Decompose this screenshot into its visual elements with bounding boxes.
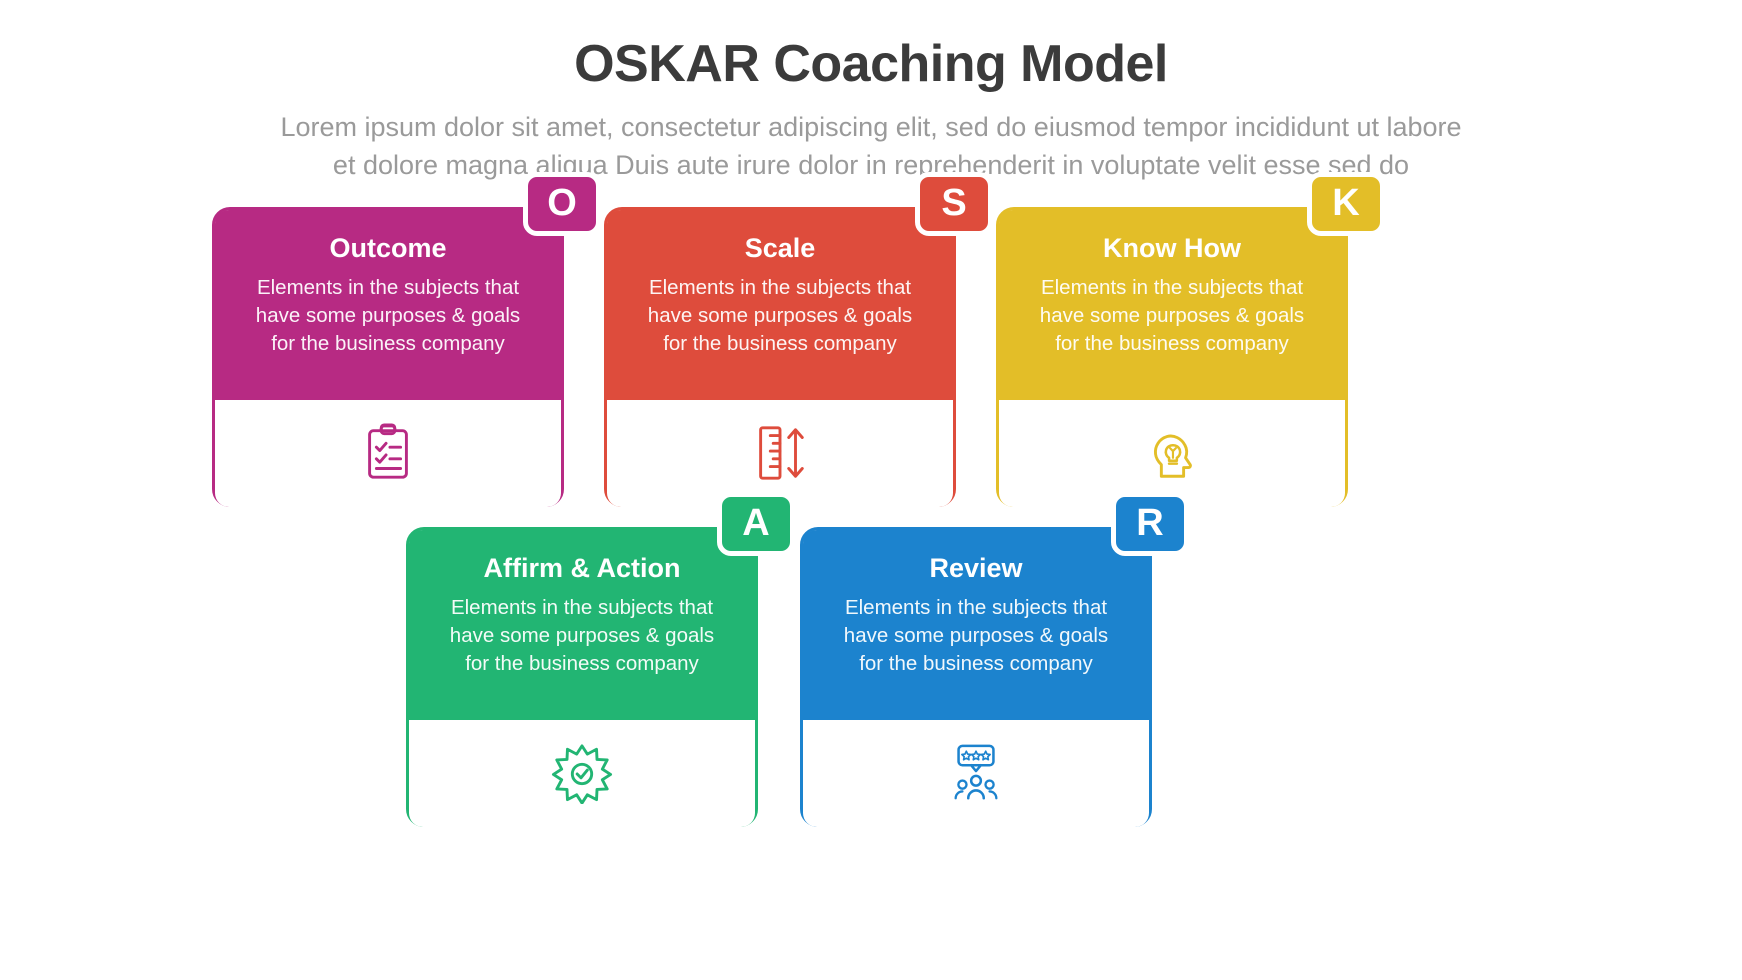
card-title-knowhow: Know How bbox=[1019, 232, 1325, 264]
card-head-knowhow: Know How Elements in the subjects that h… bbox=[999, 210, 1345, 400]
badge-letter-r: R bbox=[1111, 492, 1189, 556]
card-desc-review: Elements in the subjects that have some … bbox=[823, 594, 1129, 678]
card-review[interactable]: R Review Elements in the subjects that h… bbox=[800, 527, 1152, 827]
desc-line-1: Elements in the subjects that bbox=[451, 596, 713, 619]
card-desc-scale: Elements in the subjects that have some … bbox=[627, 274, 933, 358]
card-body-knowhow bbox=[999, 400, 1345, 507]
desc-line-1: Elements in the subjects that bbox=[649, 276, 911, 299]
badge-letter-s: S bbox=[915, 172, 993, 236]
clipboard-checklist-icon bbox=[357, 422, 419, 484]
desc-line-1: Elements in the subjects that bbox=[1041, 276, 1303, 299]
ruler-arrow-icon bbox=[749, 422, 811, 484]
desc-line-1: Elements in the subjects that bbox=[845, 596, 1107, 619]
badge-letter-a: A bbox=[717, 492, 795, 556]
infographic-page: OSKAR Coaching Model Lorem ipsum dolor s… bbox=[0, 0, 1742, 980]
card-title-review: Review bbox=[823, 552, 1129, 584]
desc-line-2: have some purposes & goals bbox=[450, 624, 714, 647]
subtitle-line-1: Lorem ipsum dolor sit amet, consectetur … bbox=[71, 108, 1671, 146]
desc-line-3: for the business company bbox=[1055, 332, 1289, 355]
card-body-scale bbox=[607, 400, 953, 507]
desc-line-1: Elements in the subjects that bbox=[257, 276, 519, 299]
header: OSKAR Coaching Model Lorem ipsum dolor s… bbox=[0, 0, 1742, 185]
card-title-affirm: Affirm & Action bbox=[429, 552, 735, 584]
badge-letter-k: K bbox=[1307, 172, 1385, 236]
card-head-affirm: Affirm & Action Elements in the subjects… bbox=[409, 530, 755, 720]
desc-line-3: for the business company bbox=[663, 332, 897, 355]
card-body-review bbox=[803, 720, 1149, 827]
card-outcome[interactable]: O Outcome Elements in the subjects that … bbox=[212, 207, 564, 507]
desc-line-3: for the business company bbox=[271, 332, 505, 355]
card-body-outcome bbox=[215, 400, 561, 507]
desc-line-3: for the business company bbox=[465, 652, 699, 675]
card-title-scale: Scale bbox=[627, 232, 933, 264]
desc-line-2: have some purposes & goals bbox=[648, 304, 912, 327]
head-lightbulb-icon bbox=[1141, 422, 1203, 484]
badge-letter-o: O bbox=[523, 172, 601, 236]
card-desc-affirm: Elements in the subjects that have some … bbox=[429, 594, 735, 678]
desc-line-2: have some purposes & goals bbox=[256, 304, 520, 327]
card-desc-knowhow: Elements in the subjects that have some … bbox=[1019, 274, 1325, 358]
page-title: OSKAR Coaching Model bbox=[0, 36, 1742, 92]
card-scale[interactable]: S Scale Elements in the subjects that ha… bbox=[604, 207, 956, 507]
card-body-affirm bbox=[409, 720, 755, 827]
card-head-scale: Scale Elements in the subjects that have… bbox=[607, 210, 953, 400]
starburst-check-icon bbox=[551, 742, 613, 804]
card-deck: O Outcome Elements in the subjects that … bbox=[0, 185, 1742, 925]
star-rating-people-icon bbox=[945, 742, 1007, 804]
desc-line-3: for the business company bbox=[859, 652, 1093, 675]
card-desc-outcome: Elements in the subjects that have some … bbox=[235, 274, 541, 358]
card-head-outcome: Outcome Elements in the subjects that ha… bbox=[215, 210, 561, 400]
desc-line-2: have some purposes & goals bbox=[844, 624, 1108, 647]
card-knowhow[interactable]: K Know How Elements in the subjects that… bbox=[996, 207, 1348, 507]
card-affirm-action[interactable]: A Affirm & Action Elements in the subjec… bbox=[406, 527, 758, 827]
desc-line-2: have some purposes & goals bbox=[1040, 304, 1304, 327]
card-title-outcome: Outcome bbox=[235, 232, 541, 264]
card-head-review: Review Elements in the subjects that hav… bbox=[803, 530, 1149, 720]
subtitle-line-2: et dolore magna aliqua Duis aute irure d… bbox=[71, 146, 1671, 184]
page-subtitle: Lorem ipsum dolor sit amet, consectetur … bbox=[71, 108, 1671, 185]
